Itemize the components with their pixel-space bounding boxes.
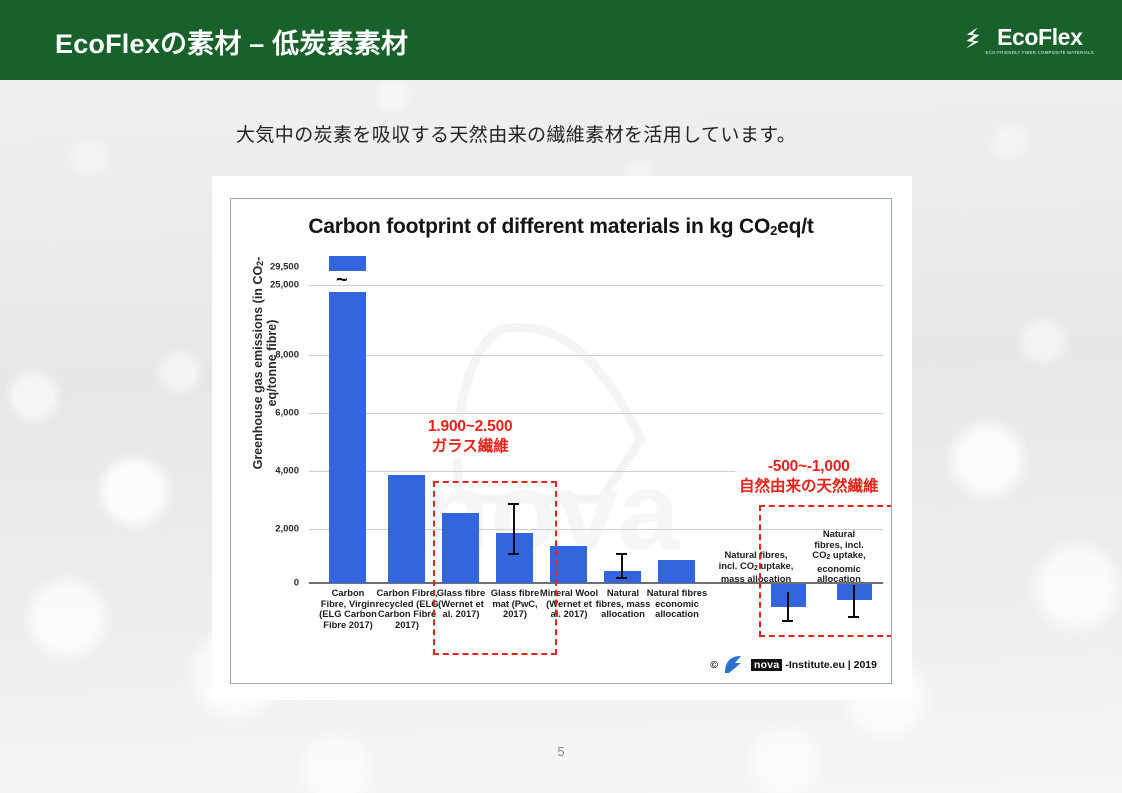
page-title-main: EcoFlexの素材 [55,29,242,59]
ecoflex-logo: EcoFlex ECO-FRIENDLY FIBER COMPOSITE MAT… [964,26,1094,56]
glass-fibre-annotation: 1.900~2.500 ガラス繊維 [424,416,516,458]
label-line: Fibre 2017) [323,619,373,630]
page-number: 5 [0,744,1122,759]
credit-nova-mark: nova [751,659,782,671]
label-line: allocation [601,608,645,619]
gridline [309,355,883,356]
gridline [309,413,883,414]
label-line: Carbon [332,587,365,598]
y-tick-label: 25,000 [241,280,299,291]
y-tick-label: 2,000 [241,524,299,535]
gridline [309,285,883,286]
highlight-box-natural-fibre [759,505,892,637]
label-line: Natural fibres [647,587,707,598]
bar-natural-fibres-economic [658,560,695,583]
label-line: 2017) [395,619,419,630]
error-bar-cap [616,577,627,579]
label-line: Fibre, Virgin [321,598,376,609]
label-line: economic [655,598,699,609]
logo-text-block: EcoFlex ECO-FRIENDLY FIBER COMPOSITE MAT… [986,26,1094,56]
chart-title-suffix: eq/t [777,215,814,238]
page-title: EcoFlexの素材 – 低炭素素材 [55,22,408,61]
slide-header: EcoFlexの素材 – 低炭素素材 EcoFlex ECO-FRIENDLY … [0,0,1122,80]
y-tick-label: 0 [241,578,299,589]
page-title-dash: – [249,29,264,59]
y-tick-label: 6,000 [241,408,299,419]
chart-title: Carbon footprint of different materials … [231,215,891,239]
annotation-label: 自然由来の天然繊維 [739,477,879,497]
ecoflex-leaf-icon [964,26,982,53]
x-axis-label-carbon-fibre-virgin: Carbon Fibre, Virgin (ELG Carbon Fibre 2… [319,588,377,630]
natural-fibre-annotation: -500~-1,000 自然由来の天然繊維 [735,456,883,498]
credit-suffix: -Institute.eu | 2019 [785,659,877,671]
label-line: Carbon Fibre [378,608,436,619]
bar-carbon-fibre-virgin [329,292,366,583]
logo-tagline: ECO-FRIENDLY FIBER COMPOSITE MATERIALS [986,49,1094,56]
label-line: Carbon Fibre, [377,587,438,598]
bar-carbon-fibre-recycled [388,475,425,583]
y-tick-label: 4,000 [241,466,299,477]
error-bar-natural-fibres-mass [621,553,623,579]
highlight-box-glass-fibre [433,481,557,655]
chart-title-prefix: Carbon footprint of different materials … [308,215,770,238]
annotation-number: -500~-1,000 [739,457,879,477]
x-axis-label-natural-fibres-economic: Natural fibres economic allocation [643,588,711,620]
slide-subtitle: 大気中の炭素を吸収する天然由来の繊維素材を活用しています。 [236,120,796,147]
error-bar-cap [616,553,627,555]
label-line: allocation [655,608,699,619]
annotation-label: ガラス繊維 [428,437,512,457]
y-tick-label: 8,000 [241,350,299,361]
logo-wordmark: EcoFlex [997,26,1082,49]
chart-frame: nova Carbon footprint of different mater… [230,198,892,684]
axis-break-symbol: ~ [336,275,348,285]
chart-card: nova Carbon footprint of different mater… [212,176,912,700]
label-line: (ELG Carbon [319,608,377,619]
page-title-sub: 低炭素素材 [272,29,408,59]
label-line: Natural [607,587,639,598]
nova-logo-icon [721,655,747,675]
annotation-number: 1.900~2.500 [428,417,512,437]
credit-copyright: © [710,659,718,671]
y-axis-tick-labels: 29,500 25,000 8,000 6,000 4,000 2,000 0 [241,199,299,683]
chart-credit: © nova -Institute.eu | 2019 [710,655,877,675]
y-tick-label: 29,500 [241,262,299,273]
